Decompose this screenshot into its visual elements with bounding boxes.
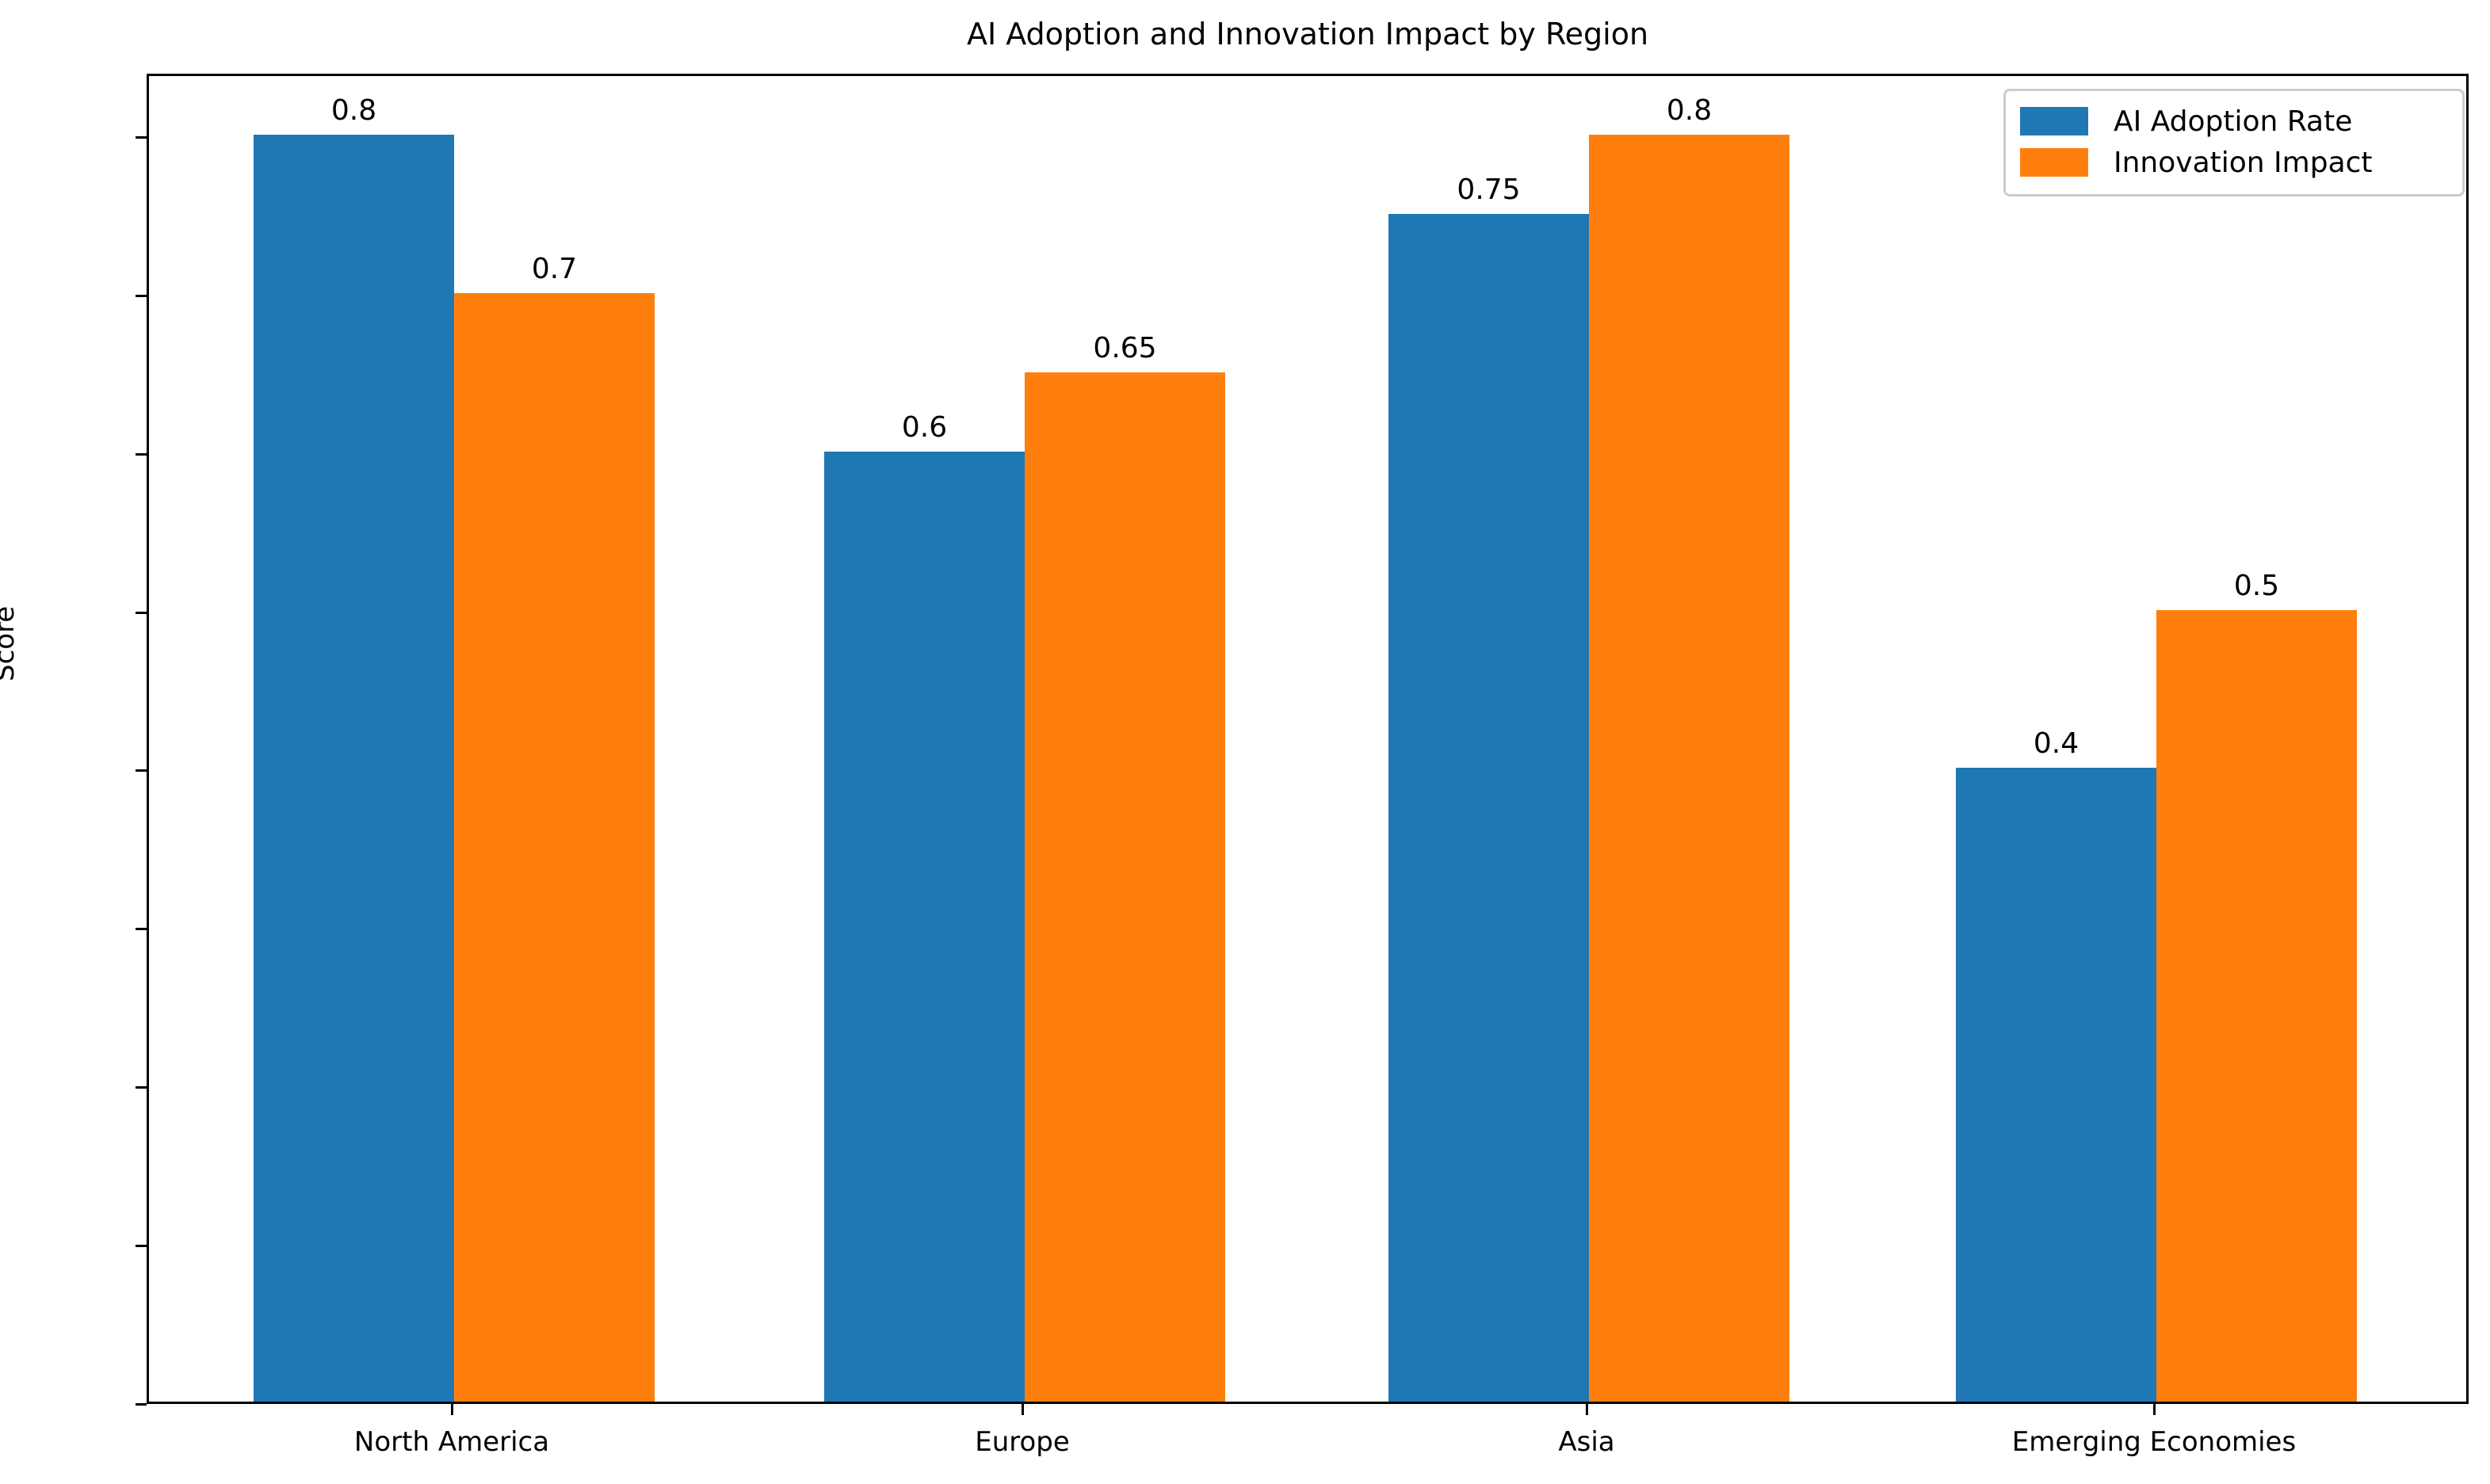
x-tick-mark [2153,1404,2156,1415]
bar [1388,214,1589,1402]
bar-value-label: 0.8 [254,95,454,127]
bar [1589,135,1789,1402]
x-tick-label: Europe [975,1426,1070,1458]
chart-figure: AI Adoption and Innovation Impact by Reg… [0,0,2490,1484]
bar [454,293,655,1402]
bar [1956,768,2156,1402]
y-tick-mark [136,1086,147,1089]
bar-value-label: 0.7 [454,254,655,285]
x-tick-mark [1586,1404,1588,1415]
chart-legend: AI Adoption Rate Innovation Impact [2003,89,2465,196]
legend-label-innovation-impact: Innovation Impact [2114,147,2373,179]
y-tick-mark [136,295,147,297]
bar [254,135,454,1402]
y-tick-mark [136,612,147,614]
legend-item[interactable]: Innovation Impact [2020,142,2448,183]
plot-area: 0.80.60.750.40.70.650.80.5 [147,74,2469,1404]
x-tick-mark [451,1404,453,1415]
bar [2156,610,2357,1402]
bar-value-label: 0.6 [824,412,1025,444]
bar [1025,372,1225,1402]
y-tick-mark [136,1245,147,1247]
chart-title: AI Adoption and Innovation Impact by Reg… [147,16,2469,52]
y-tick-mark [136,769,147,772]
bars-layer: 0.80.60.750.40.70.650.80.5 [149,76,2466,1402]
y-tick-mark [136,928,147,930]
bar-value-label: 0.75 [1388,174,1589,206]
y-tick-mark [136,453,147,456]
bar-value-label: 0.8 [1589,95,1789,127]
bar-value-label: 0.4 [1956,728,2156,760]
x-tick-mark [1022,1404,1024,1415]
bar [824,452,1025,1402]
legend-label-ai-adoption-rate: AI Adoption Rate [2114,105,2352,138]
legend-swatch-innovation-impact [2020,148,2088,177]
legend-item[interactable]: AI Adoption Rate [2020,101,2448,142]
y-axis-label: Score [0,606,21,681]
bar-value-label: 0.5 [2156,570,2357,602]
y-tick-mark [136,136,147,139]
x-tick-label: Emerging Economies [2012,1426,2296,1458]
x-tick-label: Asia [1558,1426,1614,1458]
y-tick-mark [136,1403,147,1406]
bar-value-label: 0.65 [1025,333,1225,364]
x-tick-label: North America [354,1426,549,1458]
legend-swatch-ai-adoption-rate [2020,107,2088,135]
